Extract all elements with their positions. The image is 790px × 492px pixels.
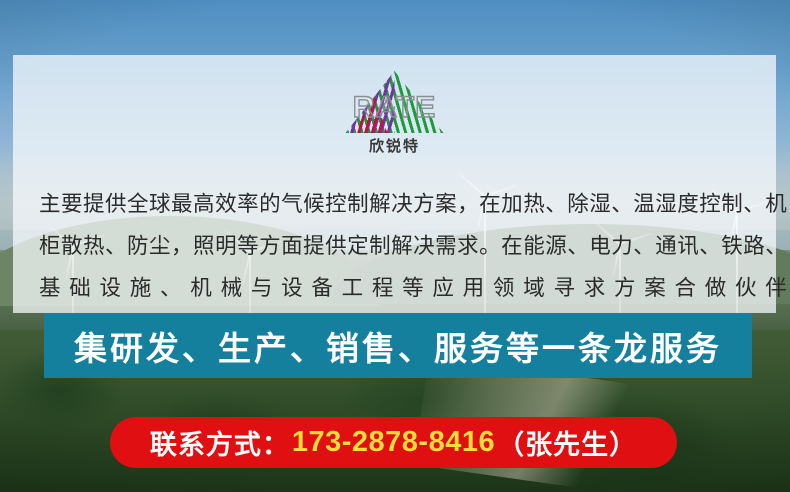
content-panel: RATE 欣锐特 主要提供全球最高效率的气候控制解决方案，在加热、除湿、温湿度控… xyxy=(13,55,776,313)
logo-chinese-name: 欣锐特 xyxy=(369,135,420,156)
brand-logo: RATE 欣锐特 xyxy=(13,71,776,156)
highlight-banner: 集研发、生产、销售、服务等一条龙服务 xyxy=(44,313,752,378)
promo-banner: RATE 欣锐特 主要提供全球最高效率的气候控制解决方案，在加热、除湿、温湿度控… xyxy=(0,0,790,492)
contact-phone[interactable]: 173-2878-8416 xyxy=(290,426,497,459)
company-description: 主要提供全球最高效率的气候控制解决方案，在加热、除湿、温湿度控制、机柜散热、防尘… xyxy=(39,183,787,309)
contact-label: 联系方式： xyxy=(150,423,290,462)
contact-badge[interactable]: 联系方式： 173-2878-8416 （张先生） xyxy=(110,417,677,468)
highlight-banner-text: 集研发、生产、销售、服务等一条龙服务 xyxy=(74,322,722,370)
logo-triangle-icon: RATE xyxy=(346,71,444,133)
contact-person: （张先生） xyxy=(497,423,637,462)
logo-wordmark: RATE xyxy=(346,93,444,123)
